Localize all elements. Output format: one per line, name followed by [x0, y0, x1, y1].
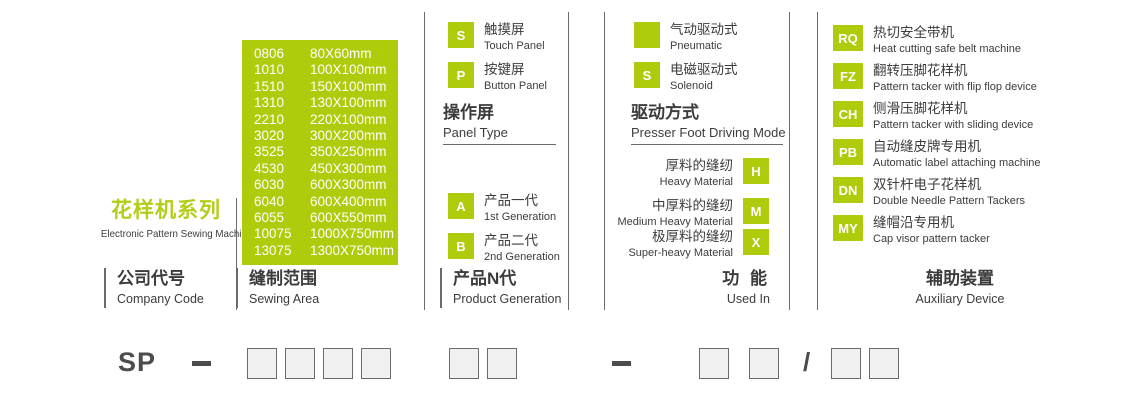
badge-flip-flop-tacker: FZ — [833, 63, 863, 89]
legend-text: 双针杆电子花样机 Double Needle Pattern Tackers — [873, 177, 1025, 208]
formula-box-sewing-area-3[interactable] — [323, 348, 353, 379]
legend-text: 翻转压脚花样机 Pattern tacker with flip flop de… — [873, 63, 1037, 94]
sewing-area-dimension: 150X100mm — [310, 79, 387, 95]
legend-text: 产品二代 2nd Generation — [484, 233, 560, 264]
legend-text: 中厚料的缝纫 Medium Heavy Material — [614, 198, 733, 229]
legend-label-en: Double Needle Pattern Tackers — [873, 194, 1025, 208]
sewing-area-code: 13075 — [242, 243, 310, 259]
legend-text: 电磁驱动式 Solenoid — [670, 62, 738, 93]
formula-box-sewing-area-2[interactable] — [285, 348, 315, 379]
section-label-en: Sewing Area — [249, 291, 319, 308]
series-title-cn: 花样机系列 — [96, 198, 236, 224]
badge-pneumatic — [634, 22, 660, 48]
sewing-area-code: 6040 — [242, 194, 310, 210]
legend-label-en: 2nd Generation — [484, 250, 560, 264]
column-divider-3 — [568, 12, 569, 310]
section-label-cn: 产品N代 — [453, 268, 561, 290]
legend-item-solenoid: S 电磁驱动式 Solenoid — [634, 62, 738, 93]
section-label-cn: 辅助装置 — [860, 268, 1060, 290]
legend-label-en: Pneumatic — [670, 39, 738, 53]
table-row: 6055 600X550mm — [242, 210, 398, 226]
legend-text: 厚料的缝纫 Heavy Material — [614, 158, 733, 189]
legend-text: 自动缝皮牌专用机 Automatic label attaching machi… — [873, 139, 1041, 170]
legend-label-en: Button Panel — [484, 79, 547, 93]
formula-box-auxiliary-2[interactable] — [869, 348, 899, 379]
legend-item-1st-generation: A 产品一代 1st Generation — [448, 193, 556, 224]
table-row: 4530 450X300mm — [242, 161, 398, 177]
sewing-area-dimension: 600X400mm — [310, 194, 387, 210]
section-label-auxiliary-device: 辅助装置 Auxiliary Device — [860, 268, 1060, 308]
legend-label-en: Solenoid — [670, 79, 738, 93]
legend-label-en: Super-heavy Material — [614, 246, 733, 260]
section-label-en: Used In — [614, 291, 770, 308]
legend-label-cn: 电磁驱动式 — [670, 62, 738, 78]
formula-dash-2 — [612, 361, 631, 366]
badge-double-needle: DN — [833, 177, 863, 203]
formula-box-sewing-area-4[interactable] — [361, 348, 391, 379]
badge-1st-generation: A — [448, 193, 474, 219]
formula-box-sewing-area-1[interactable] — [247, 348, 277, 379]
formula-box-auxiliary-1[interactable] — [831, 348, 861, 379]
formula-box-used-in-2[interactable] — [749, 348, 779, 379]
table-row: 1310 130X100mm — [242, 95, 398, 111]
formula-slash: / — [803, 340, 810, 384]
legend-label-en: 1st Generation — [484, 210, 556, 224]
legend-text: 缝帽沿专用机 Cap visor pattern tacker — [873, 215, 990, 246]
column-divider-5 — [789, 12, 790, 310]
section-label-en: Product Generation — [453, 291, 561, 308]
legend-label-en: Heavy Material — [614, 175, 733, 189]
column-divider-2 — [424, 12, 425, 310]
legend-label-cn: 热切安全带机 — [873, 25, 1021, 41]
legend-item-heavy-material: H 厚料的缝纫 Heavy Material — [614, 158, 769, 189]
legend-text: 侧滑压脚花样机 Pattern tacker with sliding devi… — [873, 101, 1033, 132]
formula-dash-1 — [192, 361, 211, 366]
table-row: 6040 600X400mm — [242, 194, 398, 210]
sewing-area-code: 4530 — [242, 161, 310, 177]
legend-text: 气动驱动式 Pneumatic — [670, 22, 738, 53]
section-label-cn: 缝制范围 — [249, 268, 319, 290]
legend-label-en: Pattern tacker with sliding device — [873, 118, 1033, 132]
section-label-company-code: 公司代号 Company Code — [104, 268, 204, 308]
formula-box-generation-1[interactable] — [449, 348, 479, 379]
legend-item-double-needle: DN 双针杆电子花样机 Double Needle Pattern Tacker… — [833, 177, 1025, 208]
sewing-area-dimension: 130X100mm — [310, 95, 387, 111]
table-row: 1010 100X100mm — [242, 62, 398, 78]
formula-box-used-in-1[interactable] — [699, 348, 729, 379]
heading-rule — [443, 144, 556, 145]
table-row: 3525 350X250mm — [242, 144, 398, 160]
sewing-area-dimension: 300X200mm — [310, 128, 387, 144]
legend-label-cn: 侧滑压脚花样机 — [873, 101, 1033, 117]
heading-rule — [631, 144, 783, 145]
section-label-sewing-area: 缝制范围 Sewing Area — [236, 268, 319, 308]
badge-label-attaching: PB — [833, 139, 863, 165]
legend-text: 热切安全带机 Heat cutting safe belt machine — [873, 25, 1021, 56]
table-row: 2210 220X100mm — [242, 112, 398, 128]
legend-item-button-panel: P 按键屏 Button Panel — [448, 62, 547, 93]
sewing-area-dimension: 450X300mm — [310, 161, 387, 177]
legend-label-cn: 自动缝皮牌专用机 — [873, 139, 1041, 155]
badge-super-heavy-material: X — [743, 229, 769, 255]
legend-item-pneumatic: 气动驱动式 Pneumatic — [634, 22, 738, 53]
sewing-area-code: 6030 — [242, 177, 310, 193]
sewing-area-dimension: 80X60mm — [310, 46, 372, 62]
model-code-diagram: 花样机系列 Electronic Pattern Sewing Machine … — [0, 0, 1140, 400]
badge-medium-heavy-material: M — [743, 198, 769, 224]
legend-label-cn: 按键屏 — [484, 62, 547, 78]
badge-heavy-material: H — [743, 158, 769, 184]
badge-sliding-tacker: CH — [833, 101, 863, 127]
table-row: 10075 1000X750mm — [242, 226, 398, 242]
heading-driving-mode: 驱动方式 Presser Foot Driving Mode — [631, 102, 783, 145]
legend-label-en: Cap visor pattern tacker — [873, 232, 990, 246]
section-label-cn: 功 能 — [614, 268, 770, 290]
heading-panel-type-en: Panel Type — [443, 124, 556, 142]
legend-label-cn: 气动驱动式 — [670, 22, 738, 38]
sewing-area-code: 2210 — [242, 112, 310, 128]
legend-label-en: Heat cutting safe belt machine — [873, 42, 1021, 56]
heading-driving-mode-en: Presser Foot Driving Mode — [631, 124, 783, 142]
formula-prefix: SP — [118, 340, 156, 384]
legend-text: 按键屏 Button Panel — [484, 62, 547, 93]
badge-touch-panel: S — [448, 22, 474, 48]
section-label-cn: 公司代号 — [117, 268, 204, 290]
legend-label-en: Automatic label attaching machine — [873, 156, 1041, 170]
column-divider-4 — [604, 12, 605, 310]
legend-item-super-heavy-material: X 极厚料的缝纫 Super-heavy Material — [614, 229, 769, 260]
series-title: 花样机系列 Electronic Pattern Sewing Machine — [96, 198, 236, 241]
table-row: 1510 150X100mm — [242, 79, 398, 95]
table-row: 6030 600X300mm — [242, 177, 398, 193]
formula-box-generation-2[interactable] — [487, 348, 517, 379]
legend-label-cn: 厚料的缝纫 — [614, 158, 733, 174]
table-row: 0806 80X60mm — [242, 46, 398, 62]
sewing-area-code: 6055 — [242, 210, 310, 226]
legend-item-touch-panel: S 触摸屏 Touch Panel — [448, 22, 545, 53]
badge-cap-visor: MY — [833, 215, 863, 241]
legend-label-en: Medium Heavy Material — [614, 215, 733, 229]
sewing-area-code: 1310 — [242, 95, 310, 111]
legend-item-medium-heavy-material: M 中厚料的缝纫 Medium Heavy Material — [614, 198, 769, 229]
column-divider-6 — [817, 12, 818, 310]
legend-item-sliding-tacker: CH 侧滑压脚花样机 Pattern tacker with sliding d… — [833, 101, 1033, 132]
badge-2nd-generation: B — [448, 233, 474, 259]
legend-label-cn: 产品二代 — [484, 233, 560, 249]
legend-item-flip-flop-tacker: FZ 翻转压脚花样机 Pattern tacker with flip flop… — [833, 63, 1037, 94]
legend-label-en: Pattern tacker with flip flop device — [873, 80, 1037, 94]
sewing-area-dimension: 350X250mm — [310, 144, 387, 160]
sewing-area-code: 0806 — [242, 46, 310, 62]
legend-item-label-attaching: PB 自动缝皮牌专用机 Automatic label attaching ma… — [833, 139, 1041, 170]
legend-label-en: Touch Panel — [484, 39, 545, 53]
legend-item-cap-visor: MY 缝帽沿专用机 Cap visor pattern tacker — [833, 215, 990, 246]
section-label-en: Company Code — [117, 291, 204, 308]
legend-label-cn: 翻转压脚花样机 — [873, 63, 1037, 79]
legend-label-cn: 双针杆电子花样机 — [873, 177, 1025, 193]
heading-panel-type: 操作屏 Panel Type — [443, 102, 556, 145]
table-row: 13075 1300X750mm — [242, 243, 398, 259]
sewing-area-code: 1010 — [242, 62, 310, 78]
sewing-area-dimension: 1000X750mm — [310, 226, 394, 242]
section-label-en: Auxiliary Device — [860, 291, 1060, 308]
sewing-area-code: 3525 — [242, 144, 310, 160]
sewing-area-code: 10075 — [242, 226, 310, 242]
badge-button-panel: P — [448, 62, 474, 88]
sewing-area-dimension: 600X300mm — [310, 177, 387, 193]
legend-text: 触摸屏 Touch Panel — [484, 22, 545, 53]
legend-label-cn: 极厚料的缝纫 — [614, 229, 733, 245]
legend-item-2nd-generation: B 产品二代 2nd Generation — [448, 233, 560, 264]
section-label-product-generation: 产品N代 Product Generation — [440, 268, 561, 308]
table-row: 3020 300X200mm — [242, 128, 398, 144]
legend-item-heat-cutting-belt: RQ 热切安全带机 Heat cutting safe belt machine — [833, 25, 1021, 56]
sewing-area-dimension: 600X550mm — [310, 210, 387, 226]
sewing-area-code: 3020 — [242, 128, 310, 144]
legend-text: 极厚料的缝纫 Super-heavy Material — [614, 229, 733, 260]
sewing-area-dimension: 100X100mm — [310, 62, 387, 78]
legend-label-cn: 触摸屏 — [484, 22, 545, 38]
model-code-formula: SP / — [0, 340, 1140, 388]
heading-panel-type-cn: 操作屏 — [443, 102, 556, 124]
legend-label-cn: 中厚料的缝纫 — [614, 198, 733, 214]
badge-solenoid: S — [634, 62, 660, 88]
legend-label-cn: 产品一代 — [484, 193, 556, 209]
legend-text: 产品一代 1st Generation — [484, 193, 556, 224]
sewing-area-dimension: 220X100mm — [310, 112, 387, 128]
series-title-en: Electronic Pattern Sewing Machine — [101, 227, 231, 241]
sewing-area-code: 1510 — [242, 79, 310, 95]
heading-driving-mode-cn: 驱动方式 — [631, 102, 783, 124]
section-label-used-in: 功 能 Used In — [614, 268, 770, 308]
sewing-area-table: 0806 80X60mm 1010 100X100mm 1510 150X100… — [242, 40, 398, 265]
badge-heat-cutting-belt: RQ — [833, 25, 863, 51]
legend-label-cn: 缝帽沿专用机 — [873, 215, 990, 231]
sewing-area-dimension: 1300X750mm — [310, 243, 394, 259]
